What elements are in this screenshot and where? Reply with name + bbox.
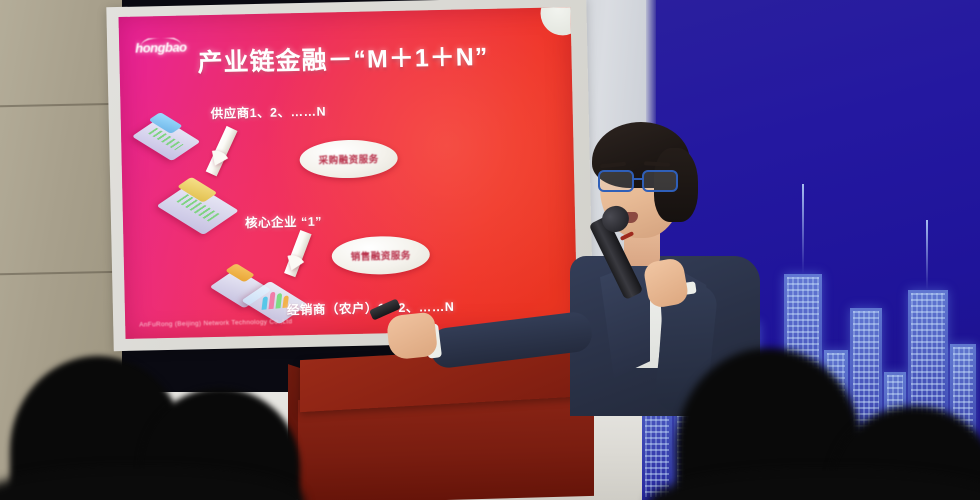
service-oval-procurement: 采购融资服务	[299, 139, 398, 179]
arrow-core-to-distributor-icon	[284, 230, 314, 278]
factory-iso-icon	[143, 122, 190, 157]
screen-glare-circle	[540, 7, 577, 36]
arrow-supplier-to-core-icon	[206, 126, 241, 178]
logo-swoosh-icon	[141, 37, 181, 45]
wall-seam	[0, 271, 122, 276]
service-oval-sales: 销售融资服务	[331, 235, 430, 275]
service-label-sales: 销售融资服务	[351, 248, 411, 263]
projection-screen-frame: hongbao 产业链金融－“M＋1＋N” 供应商1、2、……N 采购融资服务 …	[106, 0, 593, 351]
wall-seam	[0, 103, 122, 108]
service-label-procurement: 采购融资服务	[319, 151, 379, 166]
projected-slide: hongbao 产业链金融－“M＋1＋N” 供应商1、2、……N 采购融资服务 …	[119, 7, 578, 339]
glasses-icon	[596, 170, 688, 192]
presentation-photo: hongbao 产业链金融－“M＋1＋N” 供应商1、2、……N 采购融资服务 …	[0, 0, 980, 500]
core-building-iso-icon	[170, 187, 225, 230]
speaker-hand-left	[386, 312, 438, 361]
slide-title: 产业链金融－“M＋1＋N”	[197, 36, 518, 79]
node-label-core-enterprise: 核心企业 “1”	[245, 211, 322, 232]
slide-footer-text: AnFuRong (Beijing) Network Technology Co…	[139, 318, 292, 328]
node-label-suppliers: 供应商1、2、……N	[210, 101, 326, 123]
